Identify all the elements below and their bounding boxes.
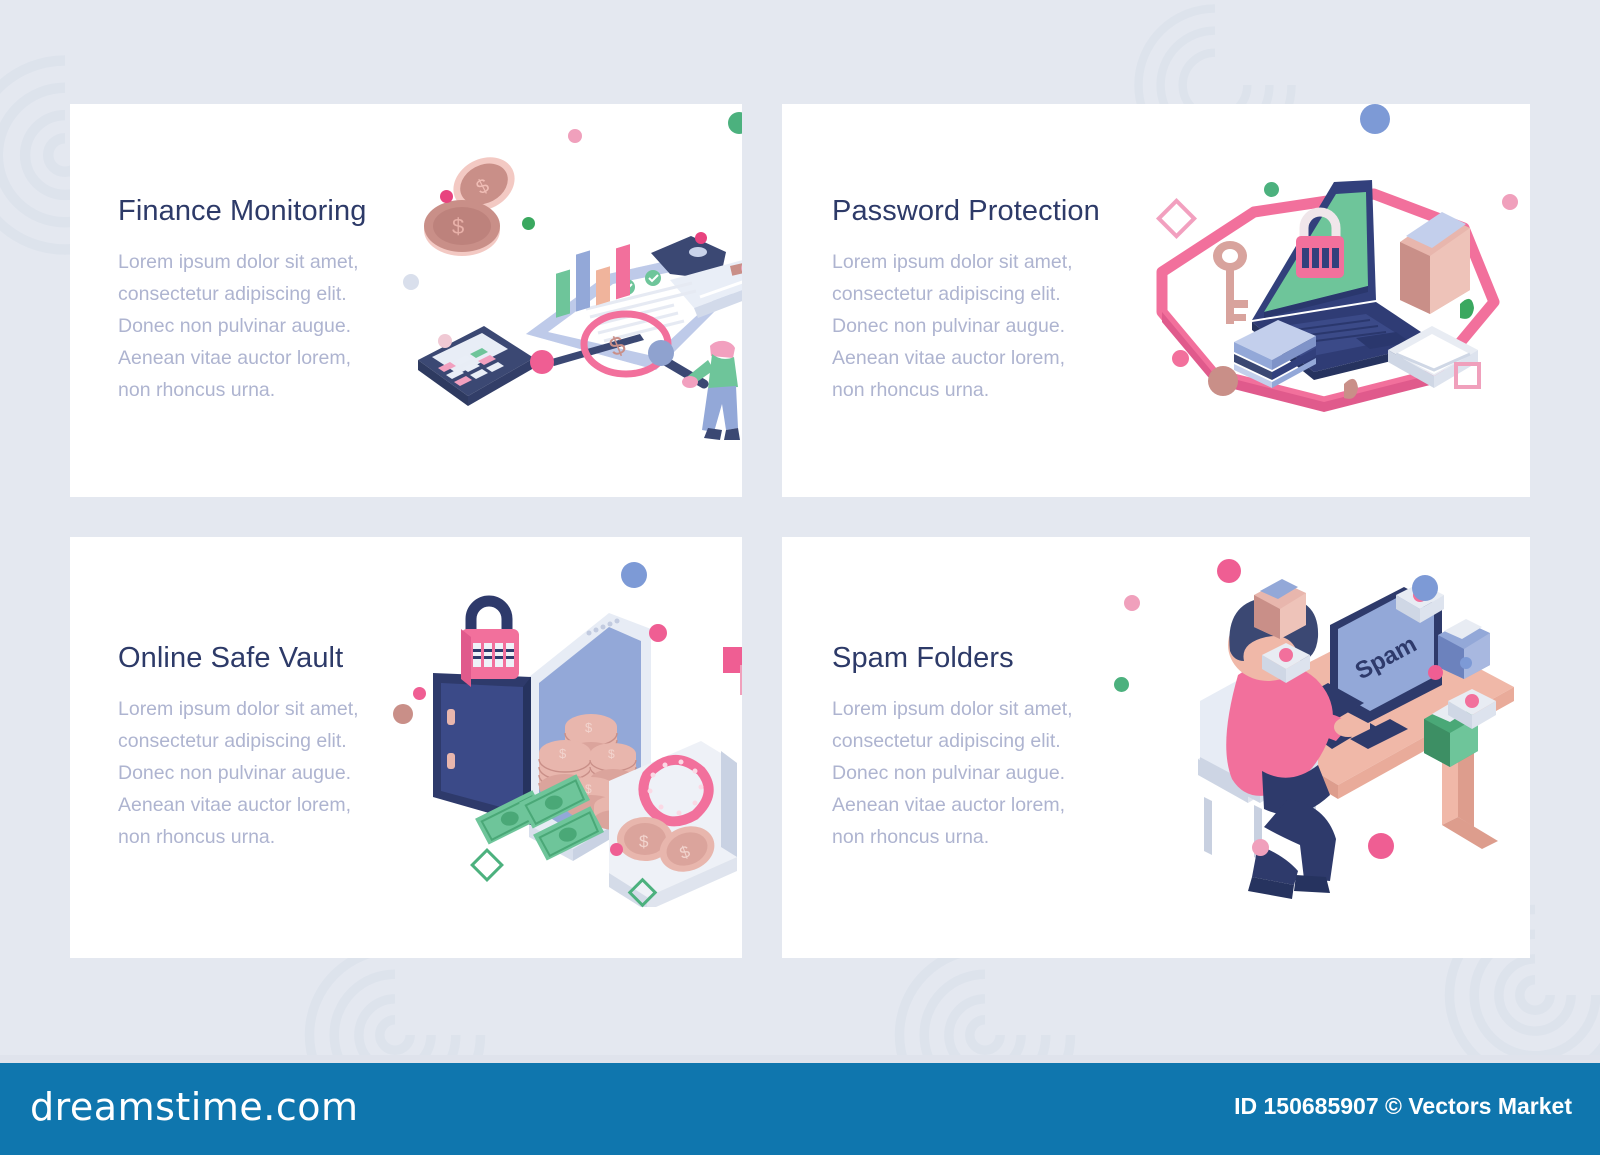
decorative-dot bbox=[1360, 104, 1390, 134]
decorative-dot bbox=[728, 112, 742, 134]
card-description: Lorem ipsum dolor sit amet, consectetur … bbox=[832, 693, 1142, 853]
desc-line: non rhoncus urna. bbox=[832, 374, 1142, 406]
decorative-square-outline bbox=[740, 665, 742, 695]
decorative-dot bbox=[1460, 657, 1472, 669]
desc-line: non rhoncus urna. bbox=[832, 821, 1142, 853]
footer-top-strip bbox=[0, 1055, 1600, 1063]
desc-line: Aenean vitae auctor lorem, bbox=[832, 342, 1142, 374]
desc-line: Aenean vitae auctor lorem, bbox=[118, 789, 418, 821]
card-description: Lorem ipsum dolor sit amet, consectetur … bbox=[118, 246, 418, 406]
image-credit: ID 150685907 © Vectors Market bbox=[1234, 1093, 1572, 1120]
decorative-dot bbox=[1368, 833, 1394, 859]
desc-line: consectetur adipiscing elit. bbox=[832, 278, 1142, 310]
decorative-dot bbox=[1217, 559, 1241, 583]
decorative-square-outline bbox=[1454, 362, 1481, 389]
page-title: Online Safe Vault bbox=[118, 642, 418, 675]
desc-line: consectetur adipiscing elit. bbox=[118, 278, 418, 310]
card-text-column: Spam Folders Lorem ipsum dolor sit amet,… bbox=[782, 642, 1142, 853]
decorative-dot bbox=[393, 704, 413, 724]
finance-monitoring-illustration: $ $ bbox=[418, 104, 742, 497]
card-text-column: Password Protection Lorem ipsum dolor si… bbox=[782, 195, 1142, 406]
online-safe-vault-illustration: $ $ bbox=[418, 537, 742, 958]
desc-line: Aenean vitae auctor lorem, bbox=[118, 342, 418, 374]
desc-line: consectetur adipiscing elit. bbox=[118, 725, 418, 757]
decorative-dot bbox=[1124, 595, 1140, 611]
desc-line: Lorem ipsum dolor sit amet, bbox=[832, 693, 1142, 725]
decorative-dot bbox=[695, 232, 707, 244]
desc-line: Donec non pulvinar augue. bbox=[832, 310, 1142, 342]
svg-text:$: $ bbox=[639, 832, 649, 851]
decorative-dot bbox=[1114, 677, 1129, 692]
decorative-dot bbox=[621, 562, 647, 588]
page-title: Finance Monitoring bbox=[118, 195, 418, 228]
card-description: Lorem ipsum dolor sit amet, consectetur … bbox=[118, 693, 418, 853]
card-online-safe-vault[interactable]: Online Safe Vault Lorem ipsum dolor sit … bbox=[70, 537, 742, 958]
dreamstime-logo-text: dreamstime.com bbox=[30, 1085, 358, 1129]
desc-line: Lorem ipsum dolor sit amet, bbox=[832, 246, 1142, 278]
decorative-dot bbox=[1428, 665, 1443, 680]
page-title: Spam Folders bbox=[832, 642, 1142, 675]
card-description: Lorem ipsum dolor sit amet, consectetur … bbox=[832, 246, 1142, 406]
card-password-protection[interactable]: Password Protection Lorem ipsum dolor si… bbox=[782, 104, 1530, 497]
desc-line: non rhoncus urna. bbox=[118, 821, 418, 853]
desc-line: Donec non pulvinar augue. bbox=[118, 310, 418, 342]
feature-card-grid: Finance Monitoring Lorem ipsum dolor sit… bbox=[70, 104, 1530, 958]
decorative-dot bbox=[648, 340, 674, 366]
card-text-column: Finance Monitoring Lorem ipsum dolor sit… bbox=[70, 195, 418, 406]
decorative-dot bbox=[530, 350, 554, 374]
decorative-dot bbox=[413, 687, 426, 700]
password-protection-illustration bbox=[1142, 104, 1530, 497]
desc-line: consectetur adipiscing elit. bbox=[832, 725, 1142, 757]
decorative-dot bbox=[649, 624, 667, 642]
decorative-dot bbox=[1172, 350, 1189, 367]
svg-text:$: $ bbox=[585, 720, 593, 735]
dreamstime-logo[interactable]: dreamstime.com bbox=[30, 1085, 358, 1129]
desc-line: non rhoncus urna. bbox=[118, 374, 418, 406]
desc-line: Donec non pulvinar augue. bbox=[832, 757, 1142, 789]
svg-text:$: $ bbox=[452, 214, 464, 239]
decorative-dot bbox=[1502, 194, 1518, 210]
desc-line: Lorem ipsum dolor sit amet, bbox=[118, 246, 418, 278]
decorative-dot bbox=[568, 129, 582, 143]
card-spam-folders[interactable]: Spam Folders Lorem ipsum dolor sit amet,… bbox=[782, 537, 1530, 958]
decorative-dot bbox=[440, 190, 453, 203]
desc-line: Donec non pulvinar augue. bbox=[118, 757, 418, 789]
decorative-dot bbox=[1264, 182, 1279, 197]
decorative-dot bbox=[438, 334, 452, 348]
decorative-dot bbox=[403, 274, 419, 290]
decorative-dot bbox=[1252, 839, 1269, 856]
desc-line: Lorem ipsum dolor sit amet, bbox=[118, 693, 418, 725]
card-text-column: Online Safe Vault Lorem ipsum dolor sit … bbox=[70, 642, 418, 853]
page-title: Password Protection bbox=[832, 195, 1142, 228]
spam-folders-illustration: Spam bbox=[1142, 537, 1530, 958]
decorative-dot bbox=[1412, 575, 1438, 601]
svg-text:$: $ bbox=[608, 747, 615, 761]
decorative-dot bbox=[522, 217, 535, 230]
svg-text:$: $ bbox=[559, 746, 567, 761]
card-finance-monitoring[interactable]: Finance Monitoring Lorem ipsum dolor sit… bbox=[70, 104, 742, 497]
decorative-dot bbox=[610, 843, 623, 856]
desc-line: Aenean vitae auctor lorem, bbox=[832, 789, 1142, 821]
decorative-dot bbox=[1208, 366, 1238, 396]
